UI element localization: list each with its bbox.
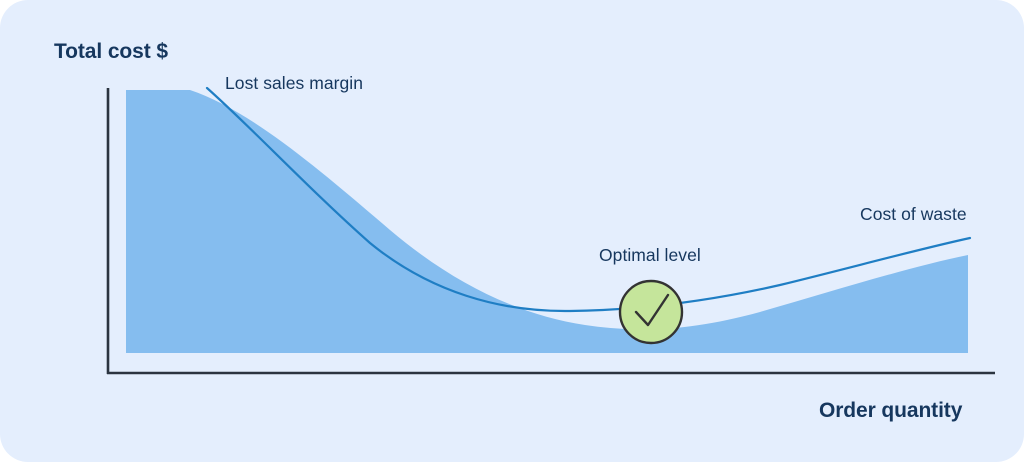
y-axis-title: Total cost $ bbox=[54, 41, 168, 62]
optimal-level-annotation: Optimal level bbox=[599, 247, 701, 265]
cost-of-waste-annotation: Cost of waste bbox=[860, 206, 967, 224]
cost-curve-plot bbox=[0, 0, 1024, 462]
chart-canvas: Total cost $ Order quantity Lost sales m… bbox=[0, 0, 1024, 462]
optimal-level-circle bbox=[620, 281, 682, 343]
optimal-level-marker[interactable] bbox=[620, 281, 682, 343]
lost-sales-margin-annotation: Lost sales margin bbox=[225, 75, 363, 93]
x-axis-title: Order quantity bbox=[819, 400, 962, 421]
chart-card: Total cost $ Order quantity Lost sales m… bbox=[0, 0, 1024, 462]
